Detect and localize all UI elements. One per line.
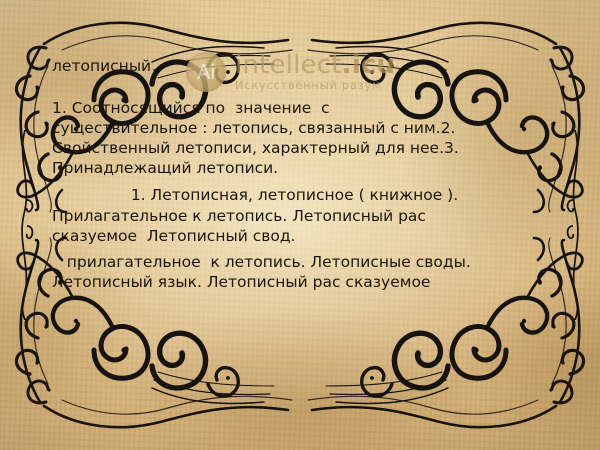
headword: летописный — [52, 58, 552, 76]
dictionary-article: летописный 1. Соотносящийся по значение … — [52, 58, 552, 292]
definition-book-sense: 1. Летописная, летописное ( книжное ). П… — [52, 185, 552, 245]
wavy-rule-left-icon — [14, 130, 36, 324]
parchment-page: Ai intellect.icu Искусственный разум лет… — [0, 0, 600, 450]
definition-extra-sense: прилагательное к летопись. Летописные св… — [52, 252, 552, 292]
wavy-rule-right-icon — [564, 130, 586, 324]
definition-senses: 1. Соотносящийся по значение с существит… — [52, 98, 552, 179]
